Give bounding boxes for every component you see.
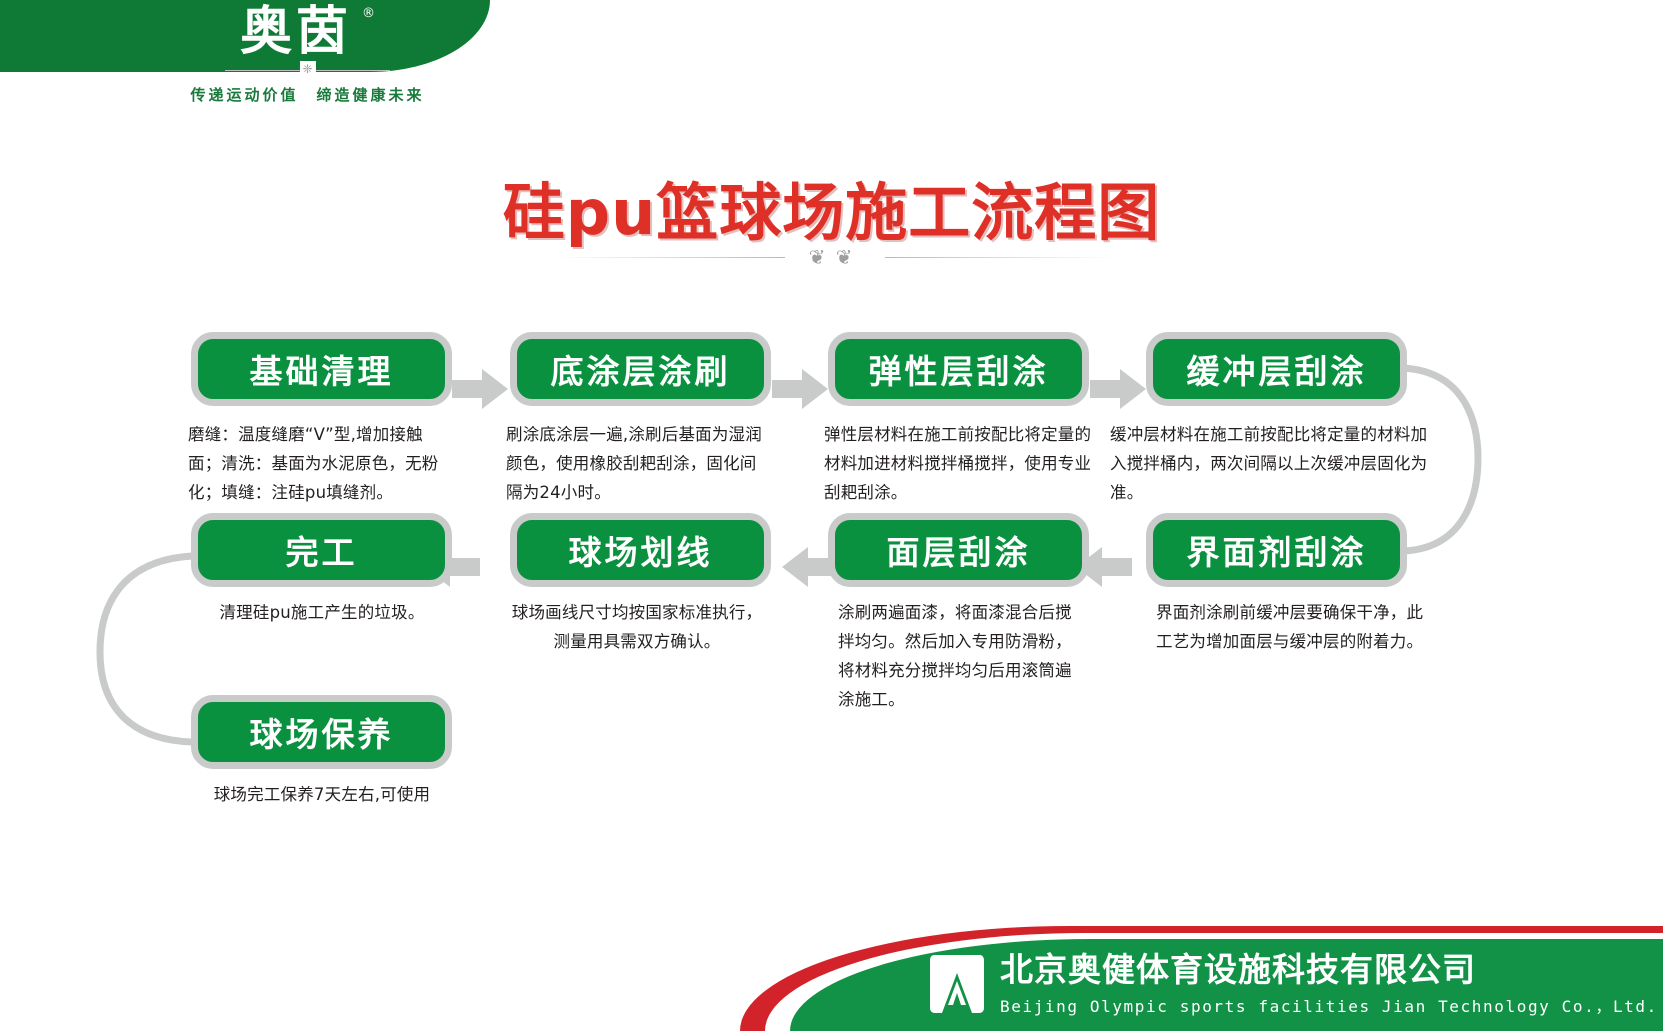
flow-node-step-8[interactable]: 完工	[191, 513, 452, 587]
flow-node-label: 面层刮涂	[887, 526, 1031, 574]
flow-node-label: 弹性层刮涂	[869, 345, 1049, 393]
company-name-cn: 北京奥健体育设施科技有限公司	[1000, 943, 1476, 991]
flow-node-step-4[interactable]: 缓冲层刮涂	[1146, 332, 1407, 406]
flow-node-label: 球场划线	[569, 526, 713, 574]
flow-node-label: 球场保养	[250, 708, 394, 756]
company-logo-icon	[930, 955, 984, 1013]
flow-node-step-6[interactable]: 面层刮涂	[828, 513, 1089, 587]
company-name-en: Beijing Olympic sports facilities Jian T…	[1000, 993, 1658, 1017]
flow-node-label: 底涂层涂刷	[551, 345, 731, 393]
flow-desc-step-4: 缓冲层材料在施工前按配比将定量的材料加入搅拌桶内，两次间隔以上次缓冲层固化为准。	[1110, 420, 1440, 507]
flow-node-step-3[interactable]: 弹性层刮涂	[828, 332, 1089, 406]
flow-desc-step-5: 界面剂涂刷前缓冲层要确保干净，此工艺为增加面层与缓冲层的附着力。	[1156, 598, 1428, 656]
flow-desc-step-2: 刷涂底涂层一遍,涂刷后基面为湿润颜色，使用橡胶刮耙刮涂，固化间隔为24小时。	[506, 420, 768, 507]
footer: 北京奥健体育设施科技有限公司 Beijing Olympic sports fa…	[0, 886, 1663, 1031]
flow-desc-step-7: 球场画线尺寸均按国家标准执行，测量用具需双方确认。	[506, 598, 768, 656]
flow-node-label: 基础清理	[250, 345, 394, 393]
flow-node-step-5[interactable]: 界面剂刮涂	[1146, 513, 1407, 587]
flow-desc-step-3: 弹性层材料在施工前按配比将定量的材料加进材料搅拌桶搅拌，使用专业刮耙刮涂。	[824, 420, 1092, 507]
flow-node-step-9[interactable]: 球场保养	[191, 695, 452, 769]
flow-desc-step-8: 清理硅pu施工产生的垃圾。	[188, 598, 456, 627]
process-flow: 基础清理 磨缝：温度缝磨“V”型,增加接触面；清洗：基面为水泥原色，无粉化；填缝…	[0, 0, 1663, 1031]
flow-node-label: 缓冲层刮涂	[1187, 345, 1367, 393]
flow-node-step-2[interactable]: 底涂层涂刷	[510, 332, 771, 406]
flow-desc-step-1: 磨缝：温度缝磨“V”型,增加接触面；清洗：基面为水泥原色，无粉化；填缝：注硅pu…	[188, 420, 450, 507]
flowchart-poster: 奥茵 ® 传递运动价值 缔造健康未来 硅pu篮球场施工流程图 ❦ ❦	[0, 0, 1663, 1031]
flow-desc-step-6: 涂刷两遍面漆，将面漆混合后搅拌均匀。然后加入专用防滑粉，将材料充分搅拌均匀后用滚…	[838, 598, 1088, 714]
flow-node-label: 完工	[286, 526, 358, 574]
flow-node-step-1[interactable]: 基础清理	[191, 332, 452, 406]
flow-node-step-7[interactable]: 球场划线	[510, 513, 771, 587]
flow-node-label: 界面剂刮涂	[1187, 526, 1367, 574]
flow-desc-step-9: 球场完工保养7天左右,可使用	[188, 780, 456, 809]
